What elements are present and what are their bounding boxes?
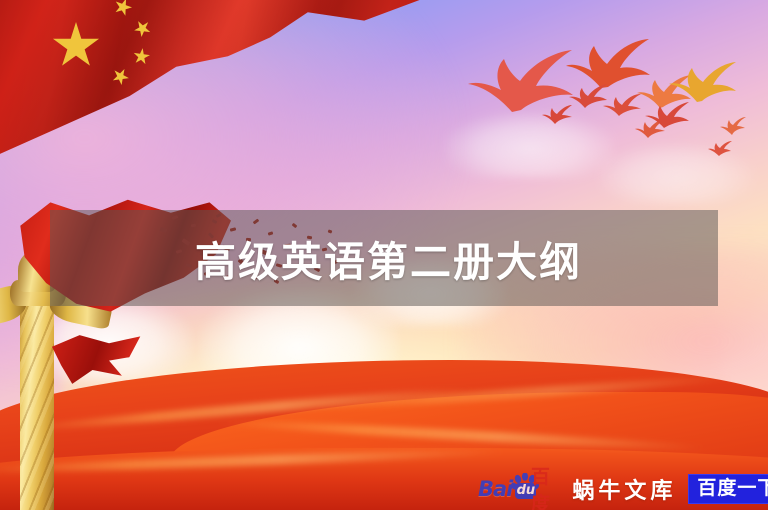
watermark-bar: Bai du 百度 蜗牛文库 百度一下: [478, 474, 768, 504]
cloud-shape: [445, 112, 614, 178]
chinese-national-flag: [0, 0, 430, 176]
column-shaft: [20, 288, 54, 510]
cover-image-canvas: 高级英语第二册大纲 Bai du 百度 蜗牛文库 百度一下: [0, 0, 768, 510]
page-title: 高级英语第二册大纲: [195, 228, 582, 288]
baidu-search-button[interactable]: 百度一下: [688, 474, 768, 504]
baidu-chinese-text: 百度: [531, 462, 558, 510]
flag-fold-shading: [0, 0, 430, 176]
red-ribbon-tail: [52, 334, 144, 392]
title-banner: 高级英语第二册大纲: [50, 210, 718, 306]
cloud-shape: [599, 143, 753, 204]
baidu-latin-text: Bai: [478, 477, 512, 501]
baidu-paw-icon: du: [510, 476, 532, 502]
site-brand-label: 蜗牛文库: [572, 473, 676, 505]
baidu-logo[interactable]: Bai du 百度: [478, 476, 558, 502]
